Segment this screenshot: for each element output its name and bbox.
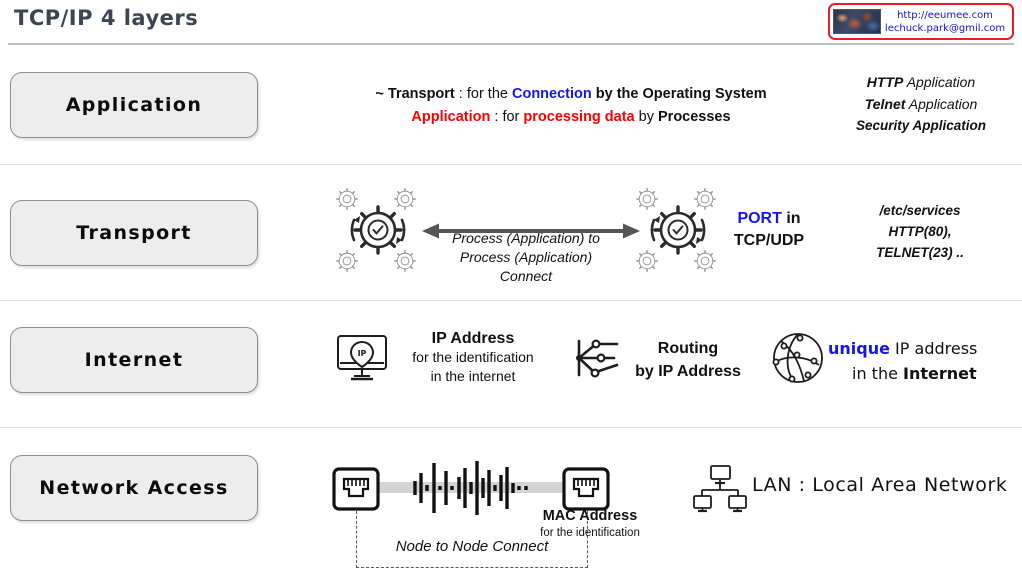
- ip-address-line2: for the identification: [392, 348, 554, 367]
- signal-waveform-icon: [412, 459, 536, 517]
- http-strong: HTTP: [867, 74, 904, 90]
- application-example-telnet: Telnet Application: [824, 94, 1018, 116]
- unique-rest: IP address: [890, 339, 977, 358]
- internet-strong: Internet: [903, 364, 977, 383]
- transport-caption-line1: Process (Application) to: [418, 229, 634, 248]
- monitor-ip-pin-icon: IP: [334, 332, 390, 384]
- ip-address-line3: in the internet: [392, 367, 554, 386]
- internet-unique-ip-block: unique IP address in the Internet: [828, 336, 1020, 386]
- application-description: ~ Transport : for the Connection by the …: [336, 83, 806, 129]
- application-examples: HTTP Application Telnet Application Secu…: [824, 72, 1018, 137]
- service-line-2: HTTP(80),: [830, 221, 1010, 242]
- service-line-1: /etc/services: [830, 200, 1010, 221]
- unique-line1: unique IP address: [828, 336, 1020, 361]
- layer-box-transport[interactable]: Transport: [10, 200, 258, 266]
- title-divider: [8, 43, 1014, 45]
- unique-strong: unique: [828, 339, 890, 358]
- port-rest: in: [782, 210, 801, 227]
- app-l1-colon: :: [455, 86, 467, 102]
- telnet-rest: Application: [905, 96, 977, 112]
- process-gears-icon-left: [333, 185, 425, 277]
- layer-box-network-access[interactable]: Network Access: [10, 455, 258, 521]
- transport-arrow-caption: Process (Application) to Process (Applic…: [418, 229, 634, 286]
- internet-routing-block: Routing by IP Address: [618, 337, 758, 383]
- globe-network-icon: [770, 331, 826, 385]
- internet-ip-address-block: IP Address for the identification in the…: [392, 329, 554, 386]
- port-line2: TCP/UDP: [716, 230, 822, 252]
- application-line-2: Application : for processing data by Pro…: [336, 106, 806, 129]
- telnet-strong: Telnet: [865, 96, 906, 112]
- contact-email[interactable]: lechuck.park@gmil.com: [881, 22, 1009, 35]
- port-line1: PORT in: [716, 208, 822, 230]
- node-to-node-caption: Node to Node Connect: [356, 538, 588, 555]
- application-line-1: ~ Transport : for the Connection by the …: [336, 83, 806, 106]
- contact-badge[interactable]: http://eeumee.com lechuck.park@gmil.com: [828, 3, 1014, 40]
- layer-label-application: Application: [66, 94, 203, 116]
- layer-label-network-access: Network Access: [39, 477, 228, 499]
- process-gears-icon-right: [633, 185, 725, 277]
- ip-address-heading: IP Address: [392, 329, 554, 348]
- svg-text:IP: IP: [358, 349, 367, 358]
- row-divider-2: [0, 300, 1022, 301]
- page-title: TCP/IP 4 layers: [14, 6, 198, 30]
- app-l2-for: for: [502, 109, 523, 125]
- routing-line2: by IP Address: [618, 360, 758, 383]
- contact-url[interactable]: http://eeumee.com: [881, 9, 1009, 22]
- security-strong: Security Application: [856, 118, 986, 133]
- unique-line2: in the Internet: [828, 361, 1020, 386]
- rj45-port-icon-right: [561, 466, 611, 512]
- lan-label: LAN : Local Area Network: [752, 474, 1008, 496]
- photo-thumbnail-icon: [833, 9, 881, 34]
- app-l2-colon: :: [490, 109, 502, 125]
- contact-badge-text: http://eeumee.com lechuck.park@gmil.com: [881, 9, 1009, 35]
- layer-box-application[interactable]: Application: [10, 72, 258, 138]
- row-divider-3: [0, 427, 1022, 428]
- app-l1-os: by the Operating System: [592, 86, 767, 102]
- http-rest: Application: [903, 74, 975, 90]
- internet-prefix: in the: [852, 364, 903, 383]
- app-l1-transport: ~ Transport: [375, 86, 454, 102]
- app-l1-forthe: for the: [467, 86, 512, 102]
- layer-label-internet: Internet: [85, 349, 184, 371]
- row-divider-1: [0, 164, 1022, 165]
- layer-box-internet[interactable]: Internet: [10, 327, 258, 393]
- application-example-http: HTTP Application: [824, 72, 1018, 94]
- mac-address-heading: MAC Address: [520, 508, 660, 525]
- application-example-security: Security Application: [824, 115, 1018, 137]
- app-l2-processes: Processes: [658, 109, 731, 125]
- transport-caption-line2: Process (Application): [418, 248, 634, 267]
- app-l2-by: by: [635, 109, 658, 125]
- app-l2-application: Application: [411, 109, 490, 125]
- transport-caption-line3: Connect: [418, 267, 634, 286]
- lan-topology-icon: [692, 464, 748, 514]
- rj45-port-icon-left: [331, 466, 381, 512]
- routing-heading: Routing: [618, 337, 758, 360]
- layer-label-transport: Transport: [76, 222, 192, 244]
- transport-port-label: PORT in TCP/UDP: [716, 208, 822, 252]
- app-l1-connection: Connection: [512, 86, 592, 102]
- port-strong: PORT: [737, 210, 781, 227]
- transport-services-list: /etc/services HTTP(80), TELNET(23) ..: [830, 200, 1010, 263]
- app-l2-processing-data: processing data: [523, 109, 634, 125]
- service-line-3: TELNET(23) ..: [830, 242, 1010, 263]
